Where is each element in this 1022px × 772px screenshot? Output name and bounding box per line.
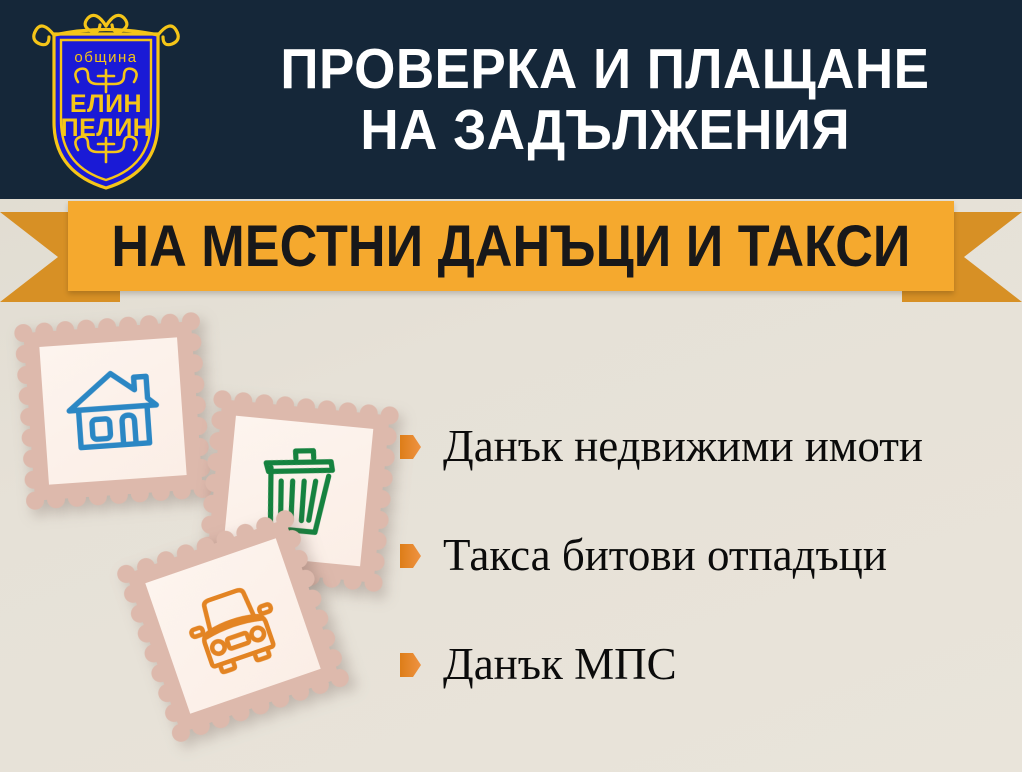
list-item[interactable]: Данък МПС — [400, 636, 1010, 692]
car-front-icon — [167, 560, 299, 692]
list-item-label: Такса битови отпадъци — [443, 533, 887, 578]
ribbon-label: НА МЕСТНИ ДАНЪЦИ И ТАКСИ — [111, 213, 910, 280]
list-item-label: Данък МПС — [443, 642, 677, 687]
tax-type-list: Данък недвижими имоти Такса битови отпад… — [400, 418, 1010, 692]
arrow-bullet-icon — [400, 435, 421, 459]
svg-text:община: община — [74, 49, 137, 66]
arrow-bullet-icon — [400, 653, 421, 677]
stamp-house — [14, 312, 213, 511]
header-bar: община ЕЛИН ПЕЛИН ПРОВЕРКА И ПЛАЩАНЕ НА … — [0, 0, 1022, 199]
stamp-house-paper — [39, 337, 186, 484]
page-title: ПРОВЕРКА И ПЛАЩАНЕ НА ЗАДЪЛЖЕНИЯ — [195, 0, 1015, 199]
page-title-line-2: НА ЗАДЪЛЖЕНИЯ — [360, 100, 850, 161]
ribbon-banner: НА МЕСТНИ ДАНЪЦИ И ТАКСИ — [68, 201, 954, 291]
poster-root: община ЕЛИН ПЕЛИН ПРОВЕРКА И ПЛАЩАНЕ НА … — [0, 0, 1022, 772]
list-item[interactable]: Данък недвижими имоти — [400, 418, 1010, 474]
house-icon — [57, 355, 168, 466]
list-item-label: Данък недвижими имоти — [443, 424, 923, 469]
page-title-line-1: ПРОВЕРКА И ПЛАЩАНЕ — [280, 39, 929, 100]
subtitle-ribbon: НА МЕСТНИ ДАНЪЦИ И ТАКСИ — [0, 198, 1022, 310]
arrow-bullet-icon — [400, 544, 421, 568]
svg-text:ПЕЛИН: ПЕЛИН — [61, 114, 152, 142]
municipality-logo: община ЕЛИН ПЕЛИН — [22, 4, 190, 194]
list-item[interactable]: Такса битови отпадъци — [400, 527, 1010, 583]
